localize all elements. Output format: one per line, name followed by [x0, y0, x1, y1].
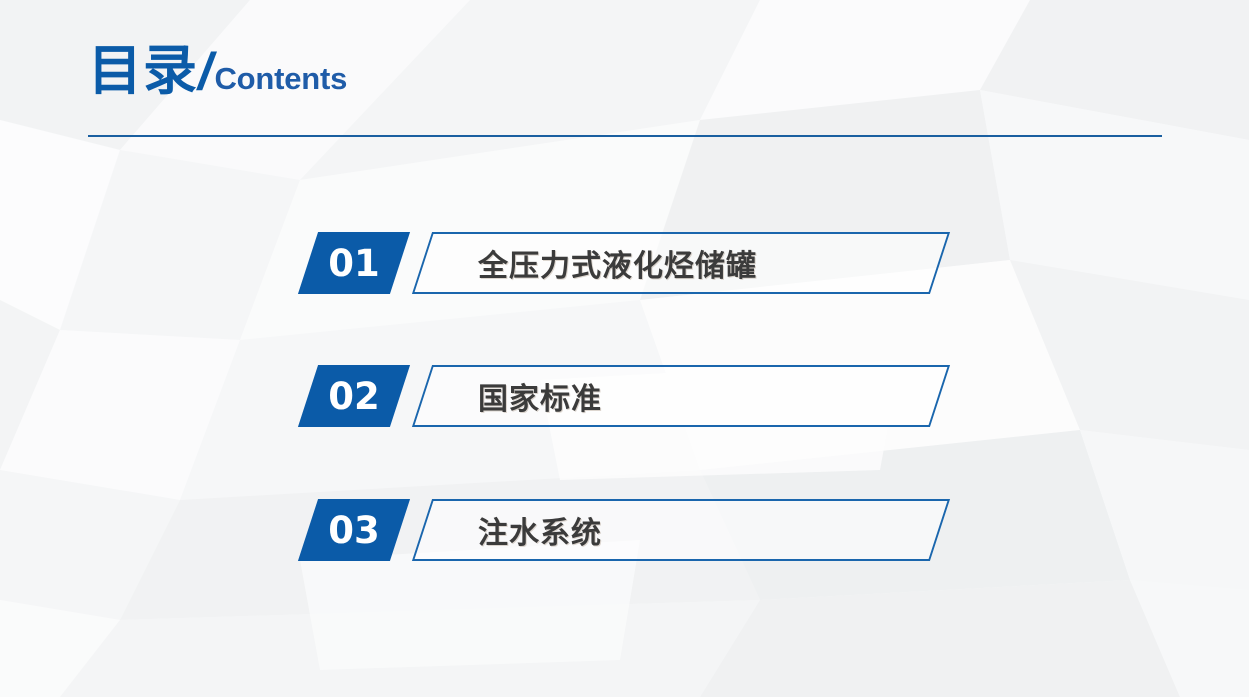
contents-item-03[interactable]: 03 注水系统 — [300, 499, 960, 561]
contents-item-02-number: 02 — [308, 365, 400, 427]
contents-list: 01 全压力式液化烃储罐 02 国家标准 03 注水系统 — [0, 0, 1249, 697]
contents-item-03-label: 注水系统 — [478, 499, 602, 561]
contents-item-01-number: 01 — [308, 232, 400, 294]
contents-item-02-badge: 02 — [298, 365, 410, 427]
contents-item-01[interactable]: 01 全压力式液化烃储罐 — [300, 232, 960, 294]
contents-item-03-badge: 03 — [298, 499, 410, 561]
contents-item-02[interactable]: 02 国家标准 — [300, 365, 960, 427]
slide-canvas: 目录 / Contents 01 全压力式液化烃储罐 02 国家标准 03 注水… — [0, 0, 1249, 697]
contents-item-01-label: 全压力式液化烃储罐 — [478, 232, 757, 294]
contents-item-03-number: 03 — [308, 499, 400, 561]
contents-item-02-label: 国家标准 — [478, 365, 602, 427]
contents-item-01-badge: 01 — [298, 232, 410, 294]
